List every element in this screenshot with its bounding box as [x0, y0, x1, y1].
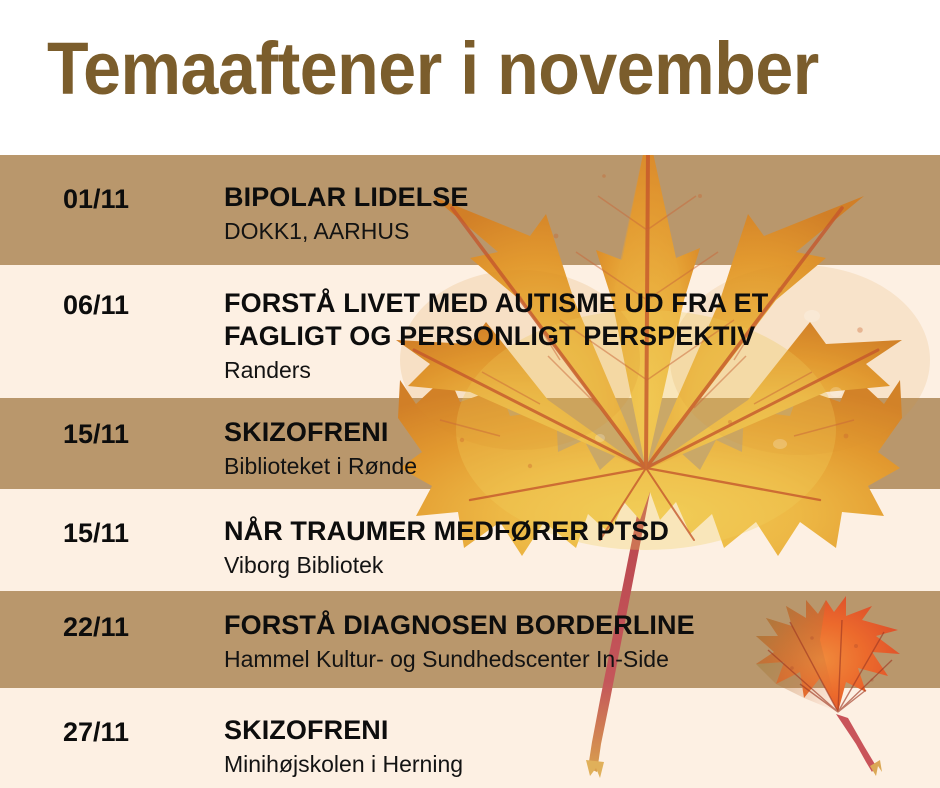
event-venue: Biblioteket i Rønde — [224, 452, 930, 481]
event-row[interactable]: 01/11BIPOLAR LIDELSEDOKK1, AARHUS — [0, 155, 940, 265]
event-body: NÅR TRAUMER MEDFØRER PTSDViborg Bibliote… — [224, 515, 930, 580]
event-title: FORSTÅ LIVET MED AUTISME UD FRA ET FAGLI… — [224, 287, 824, 353]
event-date: 15/11 — [63, 419, 129, 450]
event-row[interactable]: 27/11SKIZOFRENIMinihøjskolen i Herning — [0, 688, 940, 788]
event-date: 27/11 — [63, 717, 129, 748]
event-venue: Hammel Kultur- og Sundhedscenter In-Side — [224, 645, 930, 674]
event-venue: DOKK1, AARHUS — [224, 217, 930, 246]
event-body: SKIZOFRENIMinihøjskolen i Herning — [224, 714, 930, 779]
event-body: FORSTÅ LIVET MED AUTISME UD FRA ET FAGLI… — [224, 287, 930, 385]
event-venue: Randers — [224, 356, 930, 385]
event-title: NÅR TRAUMER MEDFØRER PTSD — [224, 515, 930, 548]
event-venue: Minihøjskolen i Herning — [224, 750, 930, 779]
event-date: 15/11 — [63, 518, 129, 549]
event-venue: Viborg Bibliotek — [224, 551, 930, 580]
event-title: FORSTÅ DIAGNOSEN BORDERLINE — [224, 609, 930, 642]
event-row[interactable]: 15/11NÅR TRAUMER MEDFØRER PTSDViborg Bib… — [0, 489, 940, 591]
event-row[interactable]: 06/11FORSTÅ LIVET MED AUTISME UD FRA ET … — [0, 265, 940, 398]
event-body: FORSTÅ DIAGNOSEN BORDERLINEHammel Kultur… — [224, 609, 930, 674]
event-row[interactable]: 15/11SKIZOFRENIBiblioteket i Rønde — [0, 398, 940, 489]
event-row[interactable]: 22/11FORSTÅ DIAGNOSEN BORDERLINEHammel K… — [0, 591, 940, 688]
event-title: SKIZOFRENI — [224, 714, 930, 747]
page-title: Temaaftener i november — [47, 27, 819, 111]
event-date: 01/11 — [63, 184, 129, 215]
event-date: 22/11 — [63, 612, 129, 643]
event-title: SKIZOFRENI — [224, 416, 930, 449]
event-body: BIPOLAR LIDELSEDOKK1, AARHUS — [224, 181, 930, 246]
poster-header: Temaaftener i november — [0, 0, 940, 155]
event-title: BIPOLAR LIDELSE — [224, 181, 930, 214]
event-body: SKIZOFRENIBiblioteket i Rønde — [224, 416, 930, 481]
event-date: 06/11 — [63, 290, 129, 321]
poster-canvas: Temaaftener i november 01/11BIPOLAR LIDE… — [0, 0, 940, 788]
